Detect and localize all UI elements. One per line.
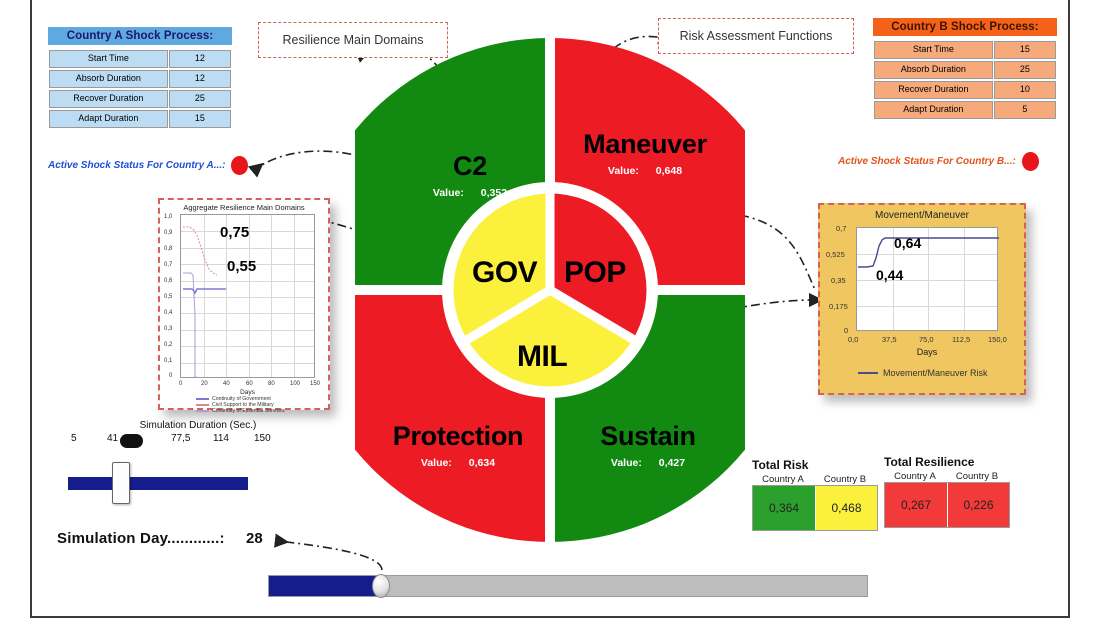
- chart-left-xtick-1: 20: [201, 381, 208, 387]
- dashboard-root: Country A Shock Process: Start Time 12 A…: [0, 0, 1100, 618]
- simulation-day-slider-thumb[interactable]: [372, 574, 390, 598]
- chart-left-xtick-0: 0: [179, 381, 182, 387]
- cell-label: Start Time: [49, 50, 168, 68]
- simulation-day-value: 28: [246, 530, 263, 547]
- country-b-shock-panel: Country B Shock Process: Start Time 15 A…: [873, 18, 1057, 121]
- chart-left-ytick-9: 0,1: [164, 358, 172, 364]
- cell-label: Start Time: [874, 41, 993, 59]
- chart-left-ytick-10: 0: [169, 373, 172, 379]
- total-risk-country-b-value: 0,468: [815, 486, 877, 530]
- chart-left-ytick-2: 0,8: [164, 246, 172, 252]
- legend-label: Movement/Maneuver Risk: [883, 368, 988, 378]
- chart-left-xtick-6: 150: [310, 381, 320, 387]
- chart-left-ytick-6: 0,4: [164, 310, 172, 316]
- chart-left-xtick-2: 40: [223, 381, 230, 387]
- total-risk-country-a-value: 0,364: [753, 486, 815, 530]
- total-resilience-country-b-value: 0,226: [947, 483, 1009, 527]
- duration-slider-thumb[interactable]: [112, 462, 130, 504]
- duration-tick-2: 77,5: [171, 433, 190, 444]
- pie-label-gov: GOV: [472, 256, 537, 290]
- table-row[interactable]: Start Time 15: [874, 41, 1056, 59]
- total-resilience-columns: Country A Country B: [884, 471, 1010, 482]
- country-b-status-row: Active Shock Status For Country B...:: [838, 152, 1039, 171]
- duration-slider-track[interactable]: [68, 477, 248, 490]
- legend-swatch-icon: [196, 410, 209, 412]
- chart-right-xtick-0: 0,0: [848, 335, 858, 344]
- chart-left-ytick-3: 0,7: [164, 262, 172, 268]
- resilience-donut-chart: C2 Value: 0,352 Maneuver Value: 0,648 Pr…: [355, 28, 745, 553]
- table-row[interactable]: Absorb Duration 25: [874, 61, 1056, 79]
- total-risk-columns: Country A Country B: [752, 474, 878, 485]
- cell-label: Recover Duration: [49, 90, 168, 108]
- chart-left-xtick-4: 80: [268, 381, 275, 387]
- country-a-status-row: Active Shock Status For Country A...:: [48, 156, 248, 175]
- chart-left-ytick-0: 1,0: [164, 214, 172, 220]
- duration-tick-1: 41: [107, 433, 118, 444]
- duration-current-badge: 50: [120, 434, 143, 448]
- cell-label: Adapt Duration: [874, 101, 993, 119]
- total-resilience-country-a-value: 0,267: [885, 483, 947, 527]
- chart-left-ytick-7: 0,3: [164, 326, 172, 332]
- chart-left-xlabel: Days: [180, 389, 315, 396]
- pie-label-pop: POP: [564, 256, 626, 290]
- chart-left-annotation-2: 0,55: [227, 258, 256, 275]
- country-b-title: Country B Shock Process:: [873, 18, 1057, 36]
- total-resilience-title: Total Resilience: [884, 455, 1010, 469]
- duration-tick-4: 150: [254, 433, 271, 444]
- cell-label: Adapt Duration: [49, 110, 168, 128]
- aggregate-resilience-chart-card[interactable]: Aggregate Resilience Main Domains 0,75 0…: [158, 198, 330, 410]
- total-risk-panel: Total Risk Country A Country B 0,364 0,4…: [752, 458, 878, 531]
- chart-left-ytick-1: 0,9: [164, 230, 172, 236]
- chart-left-annotation-1: 0,75: [220, 224, 249, 241]
- table-row[interactable]: Start Time 12: [49, 50, 231, 68]
- total-risk-title: Total Risk: [752, 458, 878, 472]
- total-resilience-panel: Total Resilience Country A Country B 0,2…: [884, 455, 1010, 528]
- cell-value[interactable]: 25: [169, 90, 231, 108]
- table-row[interactable]: Adapt Duration 5: [874, 101, 1056, 119]
- table-row[interactable]: Recover Duration 10: [874, 81, 1056, 99]
- chart-right-annotation-1: 0,64: [894, 235, 921, 251]
- cell-value[interactable]: 10: [994, 81, 1056, 99]
- pie-label-mil: MIL: [517, 340, 567, 374]
- legend-label: Continuity of Essential Services: [212, 408, 285, 414]
- chart-right-xtick-2: 75,0: [919, 335, 934, 344]
- simulation-duration-label: Simulation Duration (Sec.): [98, 420, 298, 431]
- chart-left-title: Aggregate Resilience Main Domains: [160, 200, 328, 212]
- country-a-shock-panel: Country A Shock Process: Start Time 12 A…: [48, 27, 232, 130]
- chart-right-ytick-4: 0: [844, 326, 848, 335]
- cell-label: Absorb Duration: [49, 70, 168, 88]
- chart-right-annotation-2: 0,44: [876, 267, 903, 283]
- chart-left-xtick-5: 100: [290, 381, 300, 387]
- cell-value[interactable]: 12: [169, 70, 231, 88]
- chart-right-ytick-1: 0,525: [826, 250, 845, 259]
- cell-value[interactable]: 5: [994, 101, 1056, 119]
- chart-right-xtick-4: 150,0: [988, 335, 1007, 344]
- chart-right-xtick-3: 112,5: [952, 335, 970, 344]
- column-header: Country B: [946, 471, 1008, 482]
- total-risk-cells: 0,364 0,468: [752, 485, 878, 531]
- chart-left-ytick-4: 0,6: [164, 278, 172, 284]
- country-b-table: Start Time 15 Absorb Duration 25 Recover…: [873, 39, 1057, 121]
- cell-value[interactable]: 25: [994, 61, 1056, 79]
- chart-right-xtick-1: 37,5: [882, 335, 897, 344]
- legend-swatch-icon: [858, 372, 878, 374]
- movement-maneuver-chart-card[interactable]: Movement/Maneuver 0,64 0,44 0,7 0,525 0,…: [818, 203, 1026, 395]
- chart-left-ytick-8: 0,2: [164, 342, 172, 348]
- chart-right-ytick-0: 0,7: [836, 224, 846, 233]
- cell-value[interactable]: 15: [994, 41, 1056, 59]
- simulation-day-slider-fill: [269, 576, 383, 596]
- country-a-title: Country A Shock Process:: [48, 27, 232, 45]
- chart-right-xlabel: Days: [856, 347, 998, 357]
- chart-right-ytick-2: 0,35: [831, 276, 846, 285]
- column-header: Country B: [814, 474, 876, 485]
- chart-left-legend-item-2: Continuity of Essential Services: [196, 408, 285, 414]
- chart-right-title: Movement/Maneuver: [820, 205, 1024, 221]
- table-row[interactable]: Adapt Duration 15: [49, 110, 231, 128]
- country-b-status-label: Active Shock Status For Country B...:: [838, 156, 1016, 167]
- table-row[interactable]: Recover Duration 25: [49, 90, 231, 108]
- total-resilience-cells: 0,267 0,226: [884, 482, 1010, 528]
- cell-value[interactable]: 12: [169, 50, 231, 68]
- cell-value[interactable]: 15: [169, 110, 231, 128]
- window-edge-right: [1068, 0, 1070, 618]
- duration-tick-3: 114: [213, 433, 229, 444]
- legend-swatch-icon: [196, 398, 209, 400]
- simulation-duration-slider[interactable]: [62, 461, 312, 505]
- chart-right-legend-item-0: Movement/Maneuver Risk: [858, 368, 988, 378]
- simulation-day-label: Simulation Day............:: [57, 530, 225, 547]
- country-b-status-indicator-icon: [1022, 152, 1039, 171]
- column-header: Country A: [884, 471, 946, 482]
- table-row[interactable]: Absorb Duration 12: [49, 70, 231, 88]
- column-header: Country A: [752, 474, 814, 485]
- chart-left-ytick-5: 0,5: [164, 294, 172, 300]
- country-a-status-indicator-icon: [231, 156, 248, 175]
- window-edge-left: [30, 0, 32, 618]
- cell-label: Absorb Duration: [874, 61, 993, 79]
- simulation-duration-ticks: 5 41 77,5 114 150 50: [62, 433, 312, 449]
- chart-right-ytick-3: 0,175: [829, 302, 848, 311]
- legend-swatch-icon: [196, 404, 209, 406]
- cell-label: Recover Duration: [874, 81, 993, 99]
- simulation-duration-control: Simulation Duration (Sec.) 5 41 77,5 114…: [62, 420, 312, 505]
- country-a-status-label: Active Shock Status For Country A...:: [48, 160, 225, 171]
- duration-tick-0: 5: [71, 433, 77, 444]
- donut-svg: [355, 28, 745, 553]
- country-a-table: Start Time 12 Absorb Duration 12 Recover…: [48, 48, 232, 130]
- chart-left-xtick-3: 60: [246, 381, 253, 387]
- simulation-day-slider[interactable]: [268, 575, 868, 597]
